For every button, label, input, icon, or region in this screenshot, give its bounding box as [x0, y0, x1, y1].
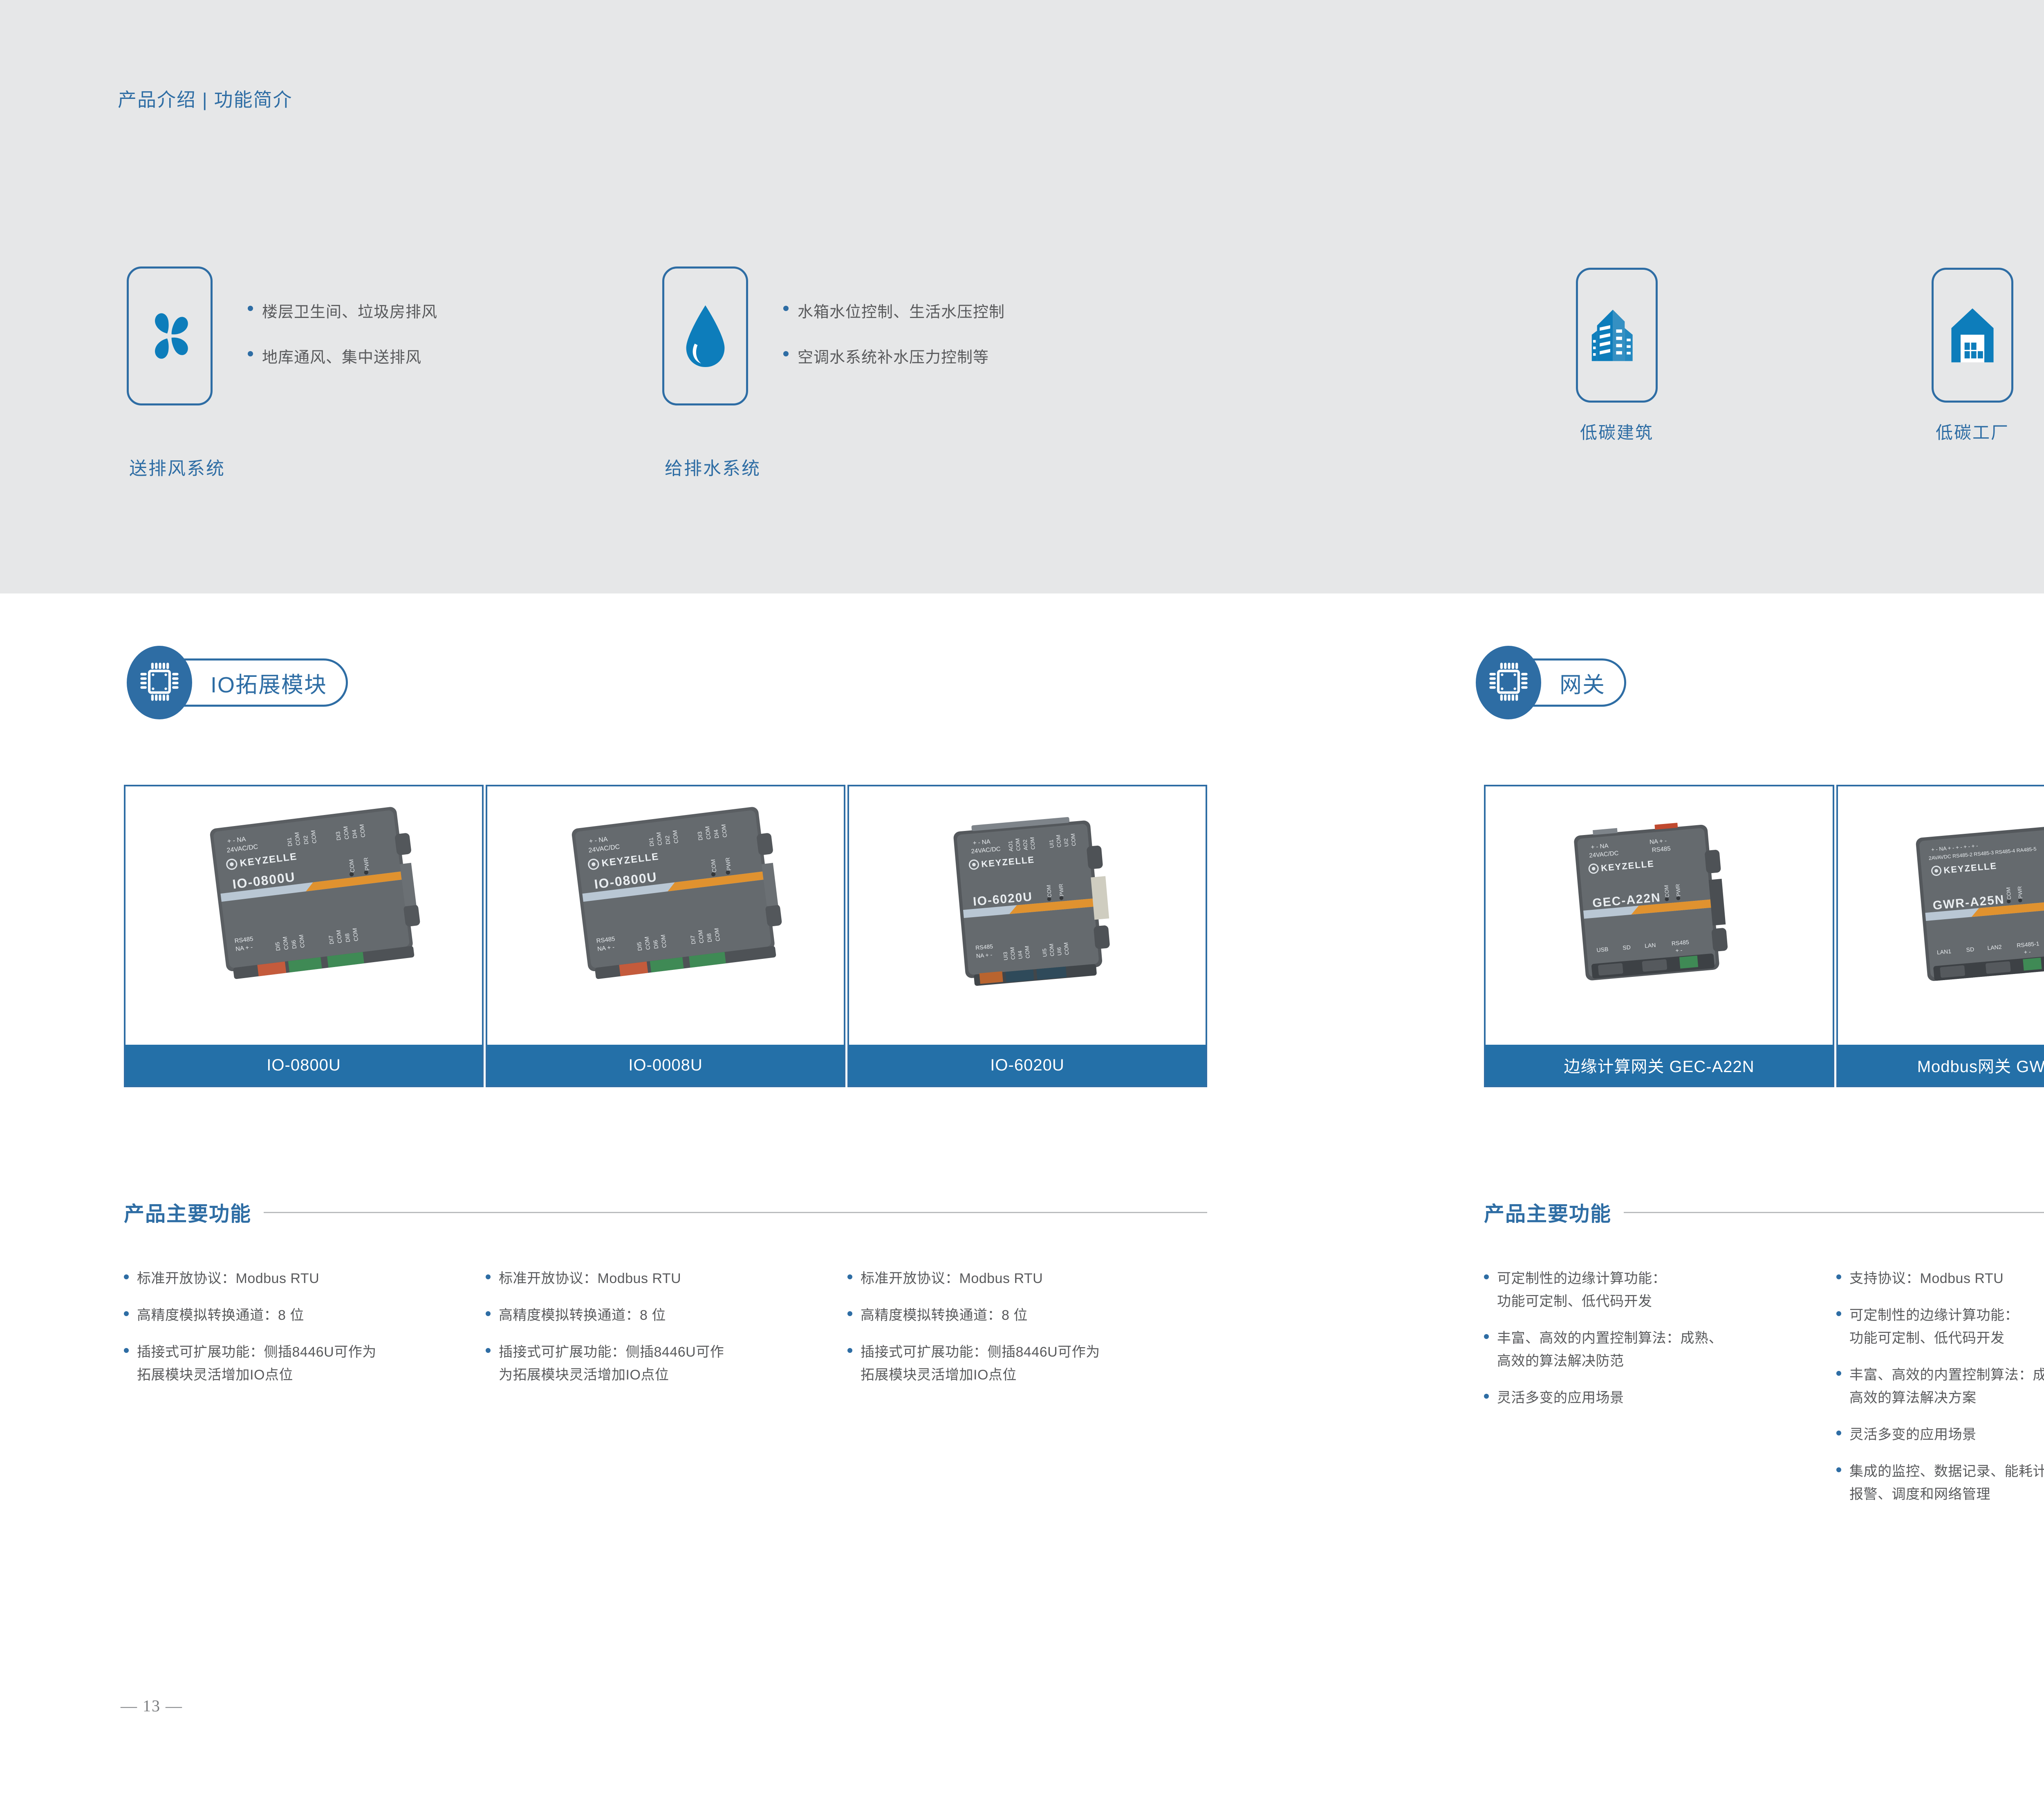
svg-text:UI5: UI5 — [1041, 948, 1048, 957]
device-image-io-6020u: + - NA 24VAC/DC AO1 COM AO2 COM UI1 COM … — [882, 795, 1176, 1011]
fan-icon — [139, 305, 200, 367]
feature-text: 高精度模拟转换通道：8 位 — [137, 1304, 304, 1327]
bullet-dot-icon — [248, 306, 253, 311]
svg-text:DI1: DI1 — [286, 837, 294, 847]
feature-list-item: 灵活多变的应用场景 — [1484, 1386, 1823, 1409]
features-title: 产品主要功能 — [1484, 1198, 1611, 1227]
heading-rule — [1624, 1212, 2044, 1213]
svg-text:DI8: DI8 — [706, 933, 713, 943]
scenario-water: 水箱水位控制、生活水压控制 空调水系统补水压力控制等 — [662, 266, 1005, 405]
feature-text: 灵活多变的应用场景 — [1849, 1423, 1977, 1446]
svg-text:AO2: AO2 — [1022, 839, 1029, 851]
svg-text:DI7: DI7 — [327, 935, 335, 945]
bullet-dot-icon — [847, 1311, 852, 1316]
product-photo: + - NA + - + - + - + - 2AVAVDC RS485-2 R… — [1838, 786, 2044, 1045]
feature-column-io-0008u: 标准开放协议：Modbus RTU高精度模拟转换通道：8 位插接式可扩展功能：侧… — [486, 1267, 837, 1400]
page-number-left: — 13 — — [121, 1696, 183, 1715]
product-card-io-6020u[interactable]: + - NA 24VAC/DC AO1 COM AO2 COM UI1 COM … — [847, 785, 1207, 1087]
svg-text:COM: COM — [2005, 887, 2013, 900]
product-label: IO-0008U — [487, 1045, 844, 1086]
svg-text:UI2: UI2 — [1063, 838, 1070, 847]
bullet-text: 水箱水位控制、生活水压控制 — [798, 299, 1005, 322]
feature-list-item: 高精度模拟转换通道：8 位 — [124, 1304, 475, 1327]
feature-list-item: 高精度模拟转换通道：8 位 — [486, 1304, 837, 1327]
feature-text: 集成的监控、数据记录、能耗计量、报警、调度和网络管理 — [1849, 1460, 2044, 1506]
feature-list-item: 集成的监控、数据记录、能耗计量、报警、调度和网络管理 — [1836, 1460, 2044, 1506]
feature-text: 丰富、高效的内置控制算法：成熟、高效的算法解决防范 — [1497, 1327, 1723, 1373]
feature-list-item: 标准开放协议：Modbus RTU — [847, 1267, 1207, 1290]
features-heading-right: 产品主要功能 — [1484, 1198, 2044, 1227]
product-card-gwr-a25n[interactable]: + - NA + - + - + - + - 2AVAVDC RS485-2 R… — [1836, 785, 2044, 1087]
bullet-dot-icon — [847, 1348, 852, 1353]
bullet-dot-icon — [1836, 1371, 1841, 1376]
svg-text:NA + -: NA + - — [976, 951, 993, 959]
tile-caption: 低碳建筑 — [1580, 419, 1654, 444]
svg-text:LAN2: LAN2 — [1987, 943, 2002, 951]
tile-low-carbon-building: 低碳建筑 — [1576, 268, 1658, 403]
tile-caption: 低碳工厂 — [1936, 419, 2009, 444]
svg-text:LAN: LAN — [1644, 942, 1656, 949]
feature-text: 插接式可扩展功能：侧插8446U可作为拓展模块灵活增加IO点位 — [861, 1341, 1100, 1386]
bullet-dot-icon — [124, 1311, 129, 1316]
fan-icon-frame — [127, 266, 213, 405]
svg-text:PWR: PWR — [1674, 884, 1682, 897]
svg-text:COM: COM — [1063, 942, 1070, 955]
bullet-dot-icon — [1836, 1467, 1841, 1472]
bullet-dot-icon — [847, 1274, 852, 1279]
svg-text:UI4: UI4 — [1017, 950, 1024, 959]
bullet-dot-icon — [124, 1274, 129, 1279]
heading-rule — [264, 1212, 1207, 1213]
feature-text: 丰富、高效的内置控制算法：成熟、高效的算法解决方案 — [1849, 1364, 2044, 1409]
chip-icon — [139, 659, 180, 707]
tile-low-carbon-factory: 低碳工厂 — [1932, 268, 2013, 403]
ventilation-bullet-list: 楼层卫生间、垃圾房排风 地库通风、集中送排风 — [248, 266, 437, 367]
svg-text:COM: COM — [1070, 833, 1077, 846]
product-label: IO-6020U — [849, 1045, 1206, 1086]
svg-text:DI4: DI4 — [713, 829, 720, 839]
bullet-text: 地库通风、集中送排风 — [262, 345, 421, 367]
svg-text:PWR: PWR — [2017, 886, 2024, 899]
svg-text:COM: COM — [1055, 835, 1062, 848]
svg-text:COM: COM — [1045, 884, 1053, 898]
features-heading-left: 产品主要功能 — [124, 1198, 1207, 1227]
feature-text: 插接式可扩展功能：侧插8446U可作为拓展模块灵活增加IO点位 — [499, 1341, 724, 1386]
product-label: Modbus网关 GWR-A25N — [1838, 1045, 2044, 1086]
svg-text:PWR: PWR — [1058, 884, 1065, 897]
svg-text:LAN1: LAN1 — [1936, 948, 1951, 956]
feature-text: 标准开放协议：Modbus RTU — [861, 1267, 1043, 1290]
water-drop-icon-frame — [662, 266, 748, 405]
bullet-dot-icon — [1836, 1431, 1841, 1435]
bullet-dot-icon — [783, 351, 789, 356]
bullet-dot-icon — [486, 1348, 491, 1353]
svg-text:DI3: DI3 — [334, 831, 342, 841]
bullet-dot-icon — [1836, 1274, 1841, 1279]
feature-list-item: 插接式可扩展功能：侧插8446U可作为拓展模块灵活增加IO点位 — [847, 1341, 1207, 1386]
svg-text:UI1: UI1 — [1048, 839, 1055, 848]
list-item: 楼层卫生间、垃圾房排风 — [248, 299, 437, 322]
list-item: 地库通风、集中送排风 — [248, 345, 437, 367]
svg-text:DI5: DI5 — [636, 941, 643, 951]
bullet-dot-icon — [486, 1311, 491, 1316]
svg-text:UI3: UI3 — [1002, 952, 1009, 961]
feature-text: 灵活多变的应用场景 — [1497, 1386, 1624, 1409]
product-photo: + - NA 24VAC/DC NA + - RS485 KEYZELLE GE… — [1486, 786, 1833, 1045]
svg-text:SD: SD — [1966, 946, 1975, 953]
svg-text:COM: COM — [1663, 884, 1670, 898]
svg-text:COM: COM — [1009, 947, 1016, 960]
feature-list-item: 标准开放协议：Modbus RTU — [486, 1267, 837, 1290]
feature-text: 标准开放协议：Modbus RTU — [137, 1267, 319, 1290]
svg-text:DI4: DI4 — [351, 829, 359, 839]
feature-column-gec-a22n: 可定制性的边缘计算功能：功能可定制、低代码开发丰富、高效的内置控制算法：成熟、高… — [1484, 1267, 1823, 1423]
features-title: 产品主要功能 — [124, 1198, 251, 1227]
svg-text:+ -: + - — [1675, 947, 1683, 954]
list-item: 空调水系统补水压力控制等 — [783, 345, 1005, 367]
svg-text:DI5: DI5 — [274, 941, 282, 951]
feature-column-io-0800u: 标准开放协议：Modbus RTU高精度模拟转换通道：8 位插接式可扩展功能：侧… — [124, 1267, 475, 1400]
device-image-gwr-a25n: + - NA + - + - + - + - 2AVAVDC RS485-2 R… — [1862, 795, 2044, 1011]
feature-list-item: 丰富、高效的内置控制算法：成熟、高效的算法解决防范 — [1484, 1327, 1823, 1373]
feature-text: 高精度模拟转换通道：8 位 — [861, 1304, 1028, 1327]
feature-list-item: 插接式可扩展功能：侧插8446U可作为拓展模块灵活增加IO点位 — [486, 1341, 837, 1386]
chip-icon — [1488, 659, 1529, 707]
feature-list-item: 支持协议：Modbus RTU — [1836, 1267, 2044, 1290]
factory-icon — [1948, 306, 1997, 365]
svg-text:DI6: DI6 — [290, 940, 298, 949]
device-image-io-0800u: + - NA 24VAC/DC DI1 COM DI2 COM DI3 COM … — [177, 797, 463, 1009]
product-card-io-0800u[interactable]: + - NA 24VAC/DC DI1 COM DI2 COM DI3 COM … — [124, 785, 484, 1087]
feature-text: 高精度模拟转换通道：8 位 — [499, 1304, 666, 1327]
product-label: IO-0800U — [126, 1045, 482, 1086]
office-buildings-icon-frame — [1576, 268, 1658, 403]
svg-text:UI6: UI6 — [1056, 947, 1063, 956]
feature-list-item: 插接式可扩展功能：侧插8446U可作为拓展模块灵活增加IO点位 — [124, 1341, 475, 1386]
feature-list-item: 灵活多变的应用场景 — [1836, 1423, 2044, 1446]
feature-text: 支持协议：Modbus RTU — [1849, 1267, 2004, 1290]
svg-text:+ -: + - — [2024, 948, 2031, 955]
product-photo: + - NA 24VAC/DC DI1 COM DI2 COM DI3 COM … — [487, 786, 844, 1045]
feature-list-item: 标准开放协议：Modbus RTU — [124, 1267, 475, 1290]
device-image-io-0008u: + - NA 24VAC/DC DI1 COM DI2 COM DI3 COM … — [538, 797, 825, 1009]
bullet-dot-icon — [1836, 1311, 1841, 1316]
water-bullet-list: 水箱水位控制、生活水压控制 空调水系统补水压力控制等 — [783, 266, 1005, 367]
feature-text: 可定制性的边缘计算功能：功能可定制、低代码开发 — [1497, 1267, 1666, 1313]
bullet-text: 空调水系统补水压力控制等 — [798, 345, 989, 367]
svg-text:AO1: AO1 — [1007, 840, 1014, 852]
office-buildings-icon — [1590, 306, 1643, 365]
feature-list-item: 高精度模拟转换通道：8 位 — [847, 1304, 1207, 1327]
water-drop-icon — [678, 302, 733, 370]
feature-text: 可定制性的边缘计算功能：功能可定制、低代码开发 — [1849, 1304, 2019, 1350]
bullet-text: 楼层卫生间、垃圾房排风 — [262, 299, 437, 322]
section-badge-label: IO拓展模块 — [211, 667, 327, 699]
scenario-title-water: 给排水系统 — [665, 454, 761, 480]
svg-text:USB: USB — [1596, 946, 1609, 953]
product-photo: + - NA 24VAC/DC AO1 COM AO2 COM UI1 COM … — [849, 786, 1206, 1045]
chip-icon-circle — [1476, 646, 1541, 719]
bullet-dot-icon — [1484, 1274, 1489, 1279]
svg-text:DI3: DI3 — [696, 831, 704, 841]
scenario-title-ventilation: 送排风系统 — [129, 454, 225, 480]
section-badge-label: 网关 — [1560, 667, 1605, 699]
svg-text:COM: COM — [1048, 943, 1056, 956]
svg-text:DI1: DI1 — [648, 837, 655, 847]
feature-column-io-6020u: 标准开放协议：Modbus RTU高精度模拟转换通道：8 位插接式可扩展功能：侧… — [847, 1267, 1207, 1400]
bullet-dot-icon — [1484, 1334, 1489, 1339]
chip-icon-circle — [127, 646, 192, 719]
list-item: 水箱水位控制、生活水压控制 — [783, 299, 1005, 322]
svg-text:SD: SD — [1623, 944, 1631, 951]
feature-list-item: 丰富、高效的内置控制算法：成熟、高效的算法解决方案 — [1836, 1364, 2044, 1409]
svg-text:DI2: DI2 — [302, 835, 310, 845]
bullet-dot-icon — [124, 1348, 129, 1353]
feature-text: 标准开放协议：Modbus RTU — [499, 1267, 681, 1290]
scenario-ventilation: 楼层卫生间、垃圾房排风 地库通风、集中送排风 — [127, 266, 437, 405]
factory-icon-frame — [1932, 268, 2013, 403]
svg-text:DI6: DI6 — [652, 940, 660, 949]
section-badge-gateway: 网关 — [1476, 646, 1626, 719]
svg-text:DI7: DI7 — [689, 935, 697, 945]
product-card-gec-a22n[interactable]: + - NA 24VAC/DC NA + - RS485 KEYZELLE GE… — [1484, 785, 1834, 1087]
feature-column-gwr-a25n: 支持协议：Modbus RTU可定制性的边缘计算功能：功能可定制、低代码开发丰富… — [1836, 1267, 2044, 1520]
svg-text:NA + -: NA + - — [1649, 837, 1667, 846]
svg-text:COM: COM — [1014, 838, 1022, 851]
product-photo: + - NA 24VAC/DC DI1 COM DI2 COM DI3 COM … — [126, 786, 482, 1045]
bullet-dot-icon — [486, 1274, 491, 1279]
svg-text:COM: COM — [1024, 945, 1031, 958]
svg-text:COM: COM — [1029, 837, 1036, 850]
feature-list-item: 可定制性的边缘计算功能：功能可定制、低代码开发 — [1484, 1267, 1823, 1313]
bullet-dot-icon — [1484, 1394, 1489, 1399]
bullet-dot-icon — [248, 351, 253, 356]
device-image-gec-a22n: + - NA 24VAC/DC NA + - RS485 KEYZELLE GE… — [1514, 795, 1800, 1011]
page-header-left: 产品介绍 | 功能简介 — [118, 85, 293, 112]
svg-text:DI8: DI8 — [344, 933, 352, 943]
bullet-dot-icon — [783, 306, 789, 311]
product-card-io-0008u[interactable]: + - NA 24VAC/DC DI1 COM DI2 COM DI3 COM … — [486, 785, 845, 1087]
feature-list-item: 可定制性的边缘计算功能：功能可定制、低代码开发 — [1836, 1304, 2044, 1350]
svg-text:DI2: DI2 — [664, 835, 672, 845]
product-label: 边缘计算网关 GEC-A22N — [1486, 1045, 1833, 1086]
section-badge-io-modules: IO拓展模块 — [127, 646, 348, 719]
feature-text: 插接式可扩展功能：侧插8446U可作为拓展模块灵活增加IO点位 — [137, 1341, 377, 1386]
